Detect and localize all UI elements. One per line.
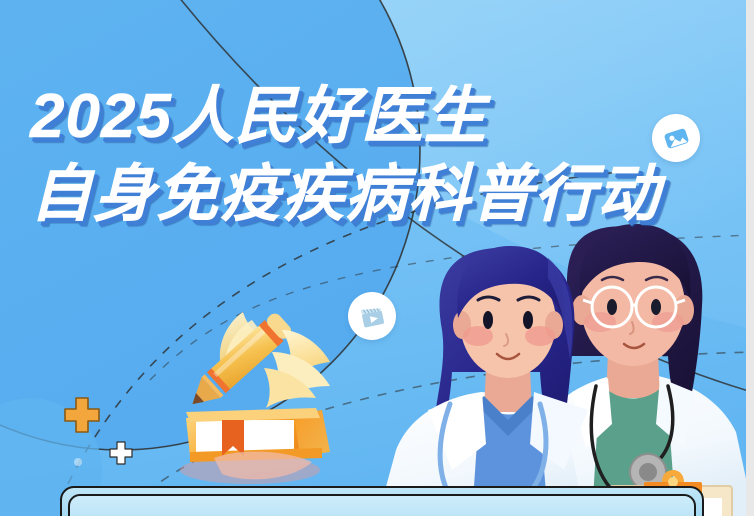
doctor-left-eye-right	[523, 311, 533, 329]
doctor-left-eye-left	[483, 311, 493, 329]
plus-white-icon	[108, 440, 134, 466]
poster-illustration-canvas	[0, 0, 754, 516]
bubble-1	[74, 458, 82, 466]
clapperboard-play-icon	[359, 303, 386, 330]
image-icon	[663, 125, 690, 152]
doctor-left-blush-right	[525, 326, 555, 346]
doctor-right-stethoscope-chestpiece-inner	[639, 463, 657, 481]
video-badge[interactable]	[348, 292, 396, 340]
doctor-right-eye-right	[651, 299, 661, 315]
book-pages	[196, 420, 294, 452]
doctor-right-eye-left	[607, 299, 617, 315]
image-badge[interactable]	[652, 114, 700, 162]
poster-root: 2025人民好医生 自身免疫疾病科普行动	[0, 0, 754, 516]
plus-orange-icon	[62, 395, 102, 435]
doctor-left-blush-left	[463, 326, 493, 346]
desk-bar-inner	[68, 494, 696, 516]
